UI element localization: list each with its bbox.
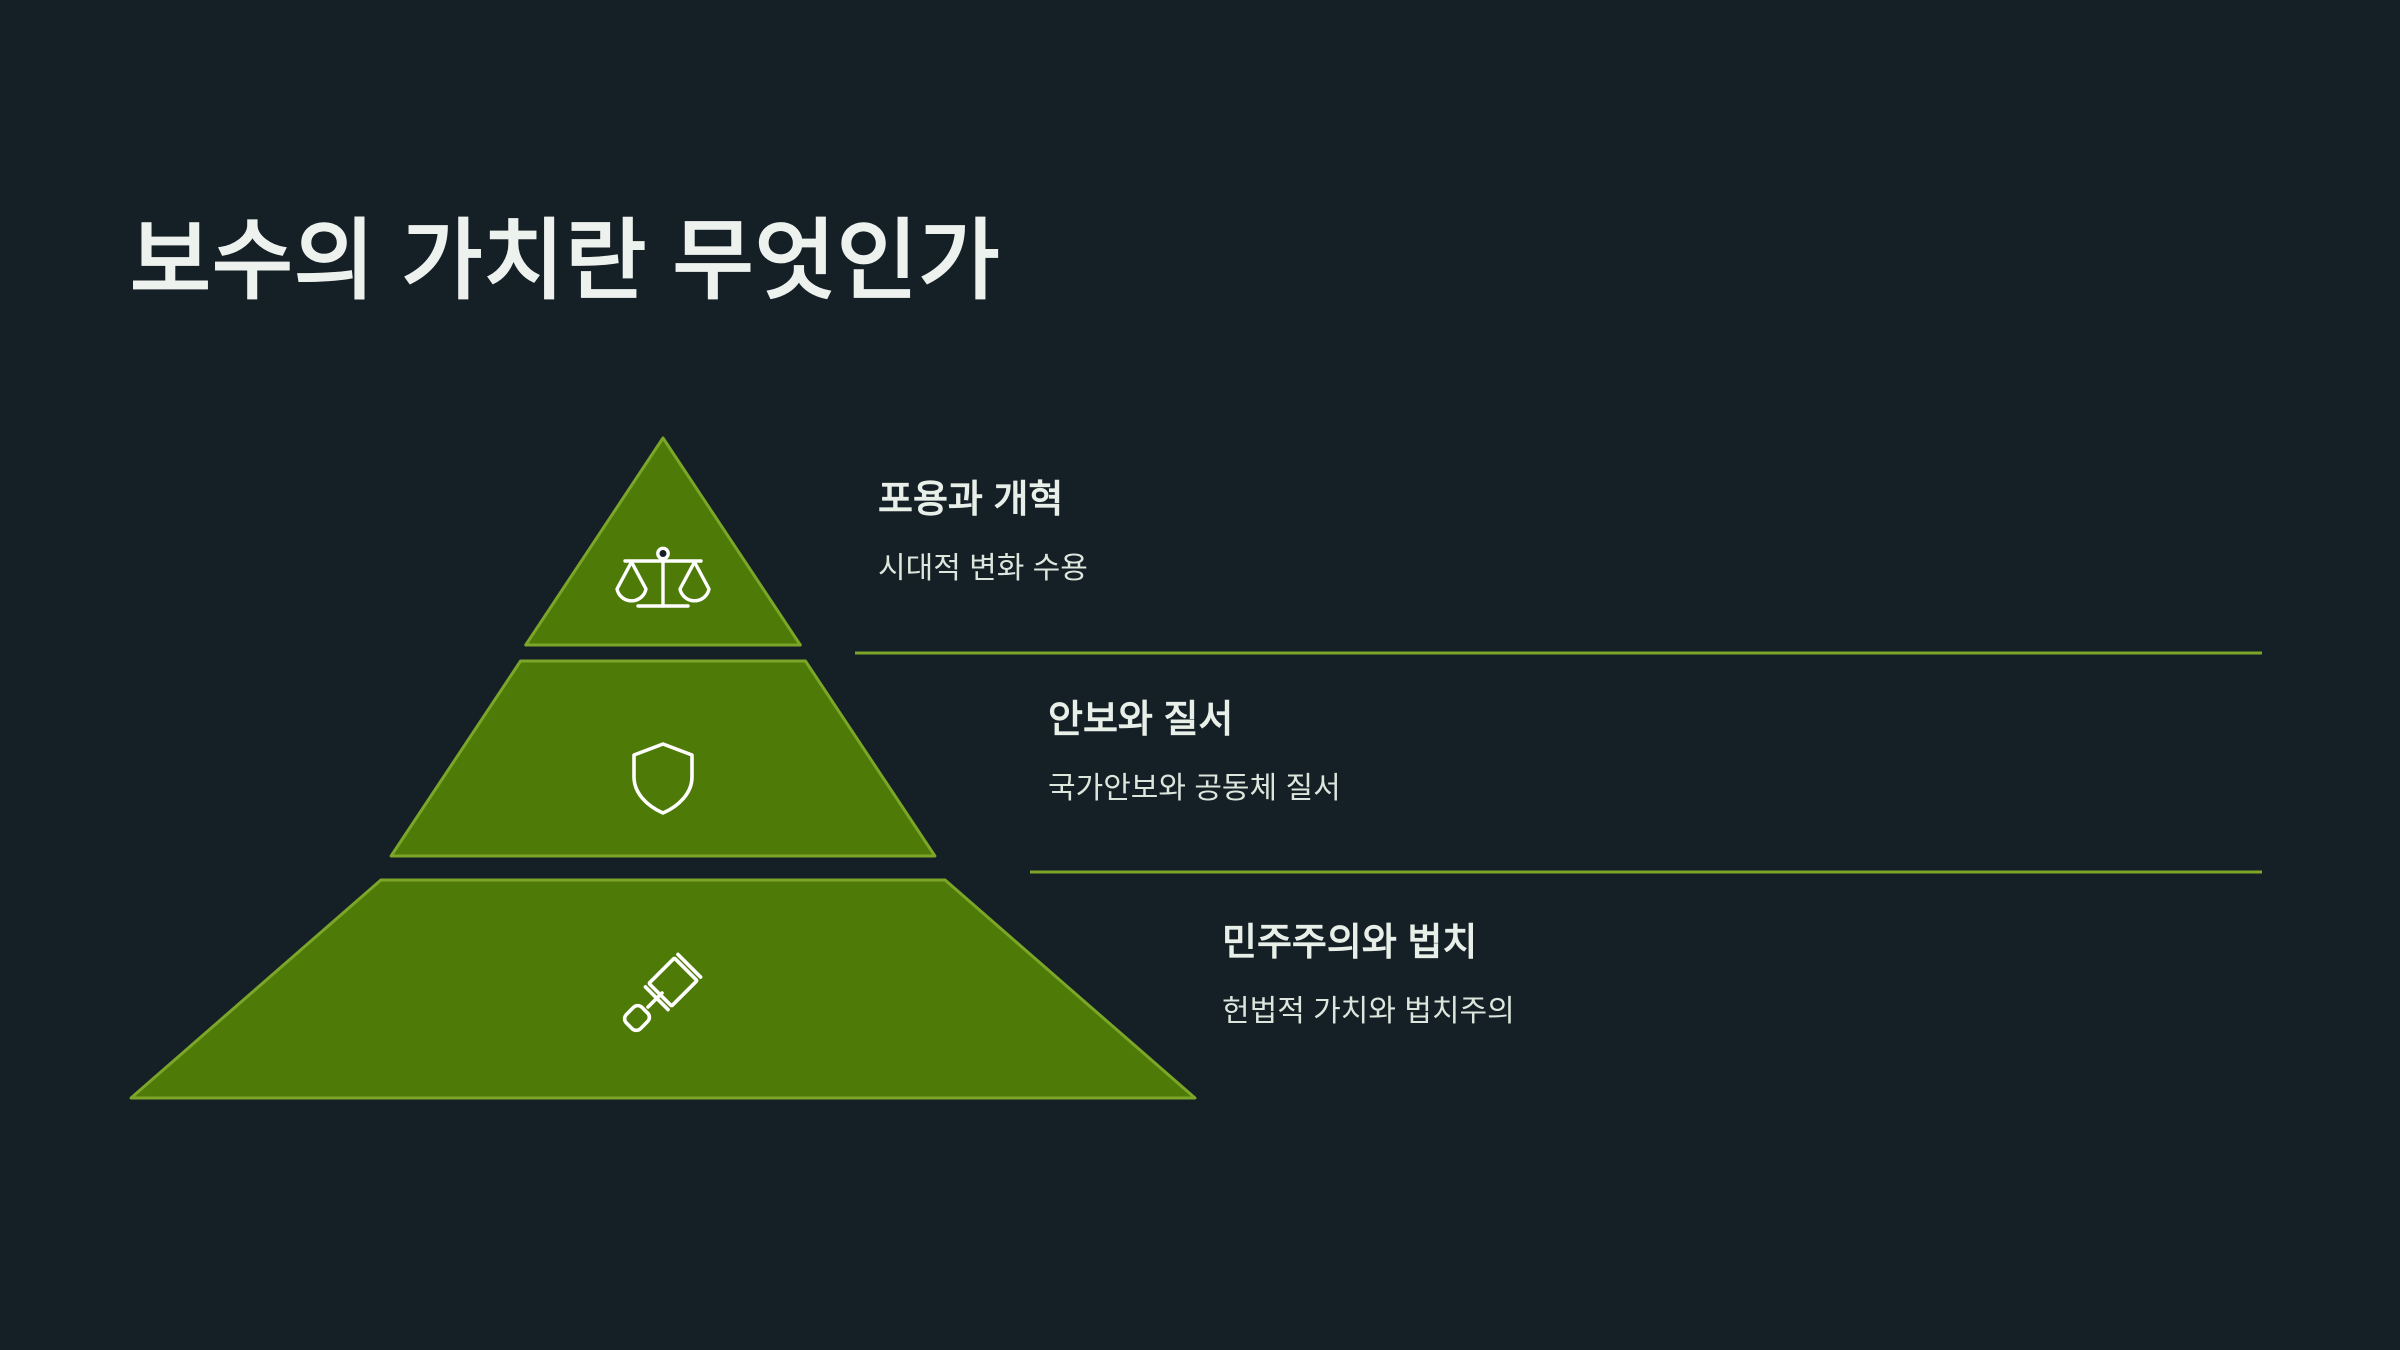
tier-title-base: 민주주의와 법치 (1222, 921, 1515, 967)
tier-description-base: 헌법적 가치와 법치주의 (1222, 993, 1515, 1031)
pyramid-diagram (0, 0, 2400, 1350)
slide-canvas: 보수의 가치란 무엇인가 (0, 0, 2400, 1350)
tier-description-middle: 국가안보와 공동체 질서 (1048, 770, 1341, 808)
tier-title-middle: 안보와 질서 (1048, 698, 1341, 744)
tier-text-middle: 안보와 질서 국가안보와 공동체 질서 (1048, 698, 1341, 807)
shield-icon (634, 744, 692, 813)
page-title: 보수의 가치란 무엇인가 (130, 212, 1001, 311)
tier-text-base: 민주주의와 법치 헌법적 가치와 법치주의 (1222, 921, 1515, 1030)
gavel-icon (622, 954, 700, 1032)
tier-title-top: 포용과 개혁 (878, 478, 1088, 524)
pyramid-tier-top[interactable] (526, 438, 801, 645)
tier-text-top: 포용과 개혁 시대적 변화 수용 (878, 478, 1088, 587)
pyramid-tier-base[interactable] (131, 880, 1195, 1098)
scales-icon (617, 548, 709, 606)
tier-description-top: 시대적 변화 수용 (878, 550, 1088, 588)
pyramid-tier-middle[interactable] (391, 661, 935, 856)
